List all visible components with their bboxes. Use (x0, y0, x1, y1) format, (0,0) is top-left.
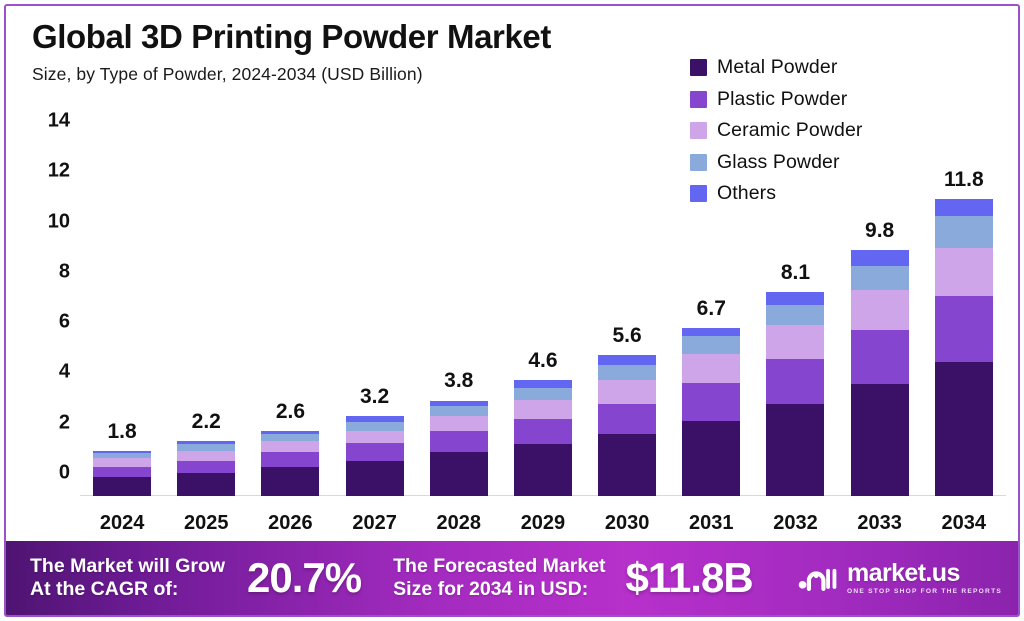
bar-column[interactable]: 2.6 (255, 85, 325, 505)
bar-segment[interactable] (93, 467, 151, 477)
x-axis-label: 2028 (424, 512, 494, 535)
y-axis-tick: 4 (59, 361, 70, 384)
bar-column[interactable]: 11.8 (929, 85, 999, 505)
bar-segment[interactable] (514, 388, 572, 401)
legend-swatch-icon (690, 59, 707, 76)
x-axis-label: 2025 (171, 512, 241, 535)
bar-segment[interactable] (177, 473, 235, 496)
bar-segment[interactable] (261, 452, 319, 467)
bar-column[interactable]: 3.8 (424, 85, 494, 505)
bar-total-label: 1.8 (107, 420, 136, 444)
bar-segment[interactable] (177, 451, 235, 461)
y-axis-tick: 2 (59, 411, 70, 434)
bar-segment[interactable] (766, 325, 824, 359)
infographic-root: Global 3D Printing Powder Market Size, b… (0, 0, 1024, 621)
bar-segment[interactable] (598, 404, 656, 434)
bar-segment[interactable] (851, 290, 909, 330)
cagr-block: The Market will Grow At the CAGR of: 20.… (30, 554, 361, 602)
chart-subtitle: Size, by Type of Powder, 2024-2034 (USD … (32, 64, 1018, 85)
bar-column[interactable]: 4.6 (508, 85, 578, 505)
stacked-bar[interactable] (935, 199, 993, 496)
bar-segment[interactable] (430, 416, 488, 431)
bar-segment[interactable] (766, 359, 824, 404)
bar-total-label: 2.6 (276, 400, 305, 424)
x-axis-label: 2024 (87, 512, 157, 535)
bar-segment[interactable] (935, 216, 993, 249)
y-axis-tick: 10 (48, 210, 70, 233)
legend-item[interactable]: Ceramic Powder (690, 119, 863, 142)
bar-segment[interactable] (935, 248, 993, 296)
stacked-bar[interactable] (766, 292, 824, 496)
x-axis-label: 2033 (844, 512, 914, 535)
x-axis-label: 2031 (676, 512, 746, 535)
bar-segment[interactable] (346, 422, 404, 431)
bar-total-label: 9.8 (865, 219, 894, 243)
bar-segment[interactable] (766, 404, 824, 496)
legend-item[interactable]: Plastic Powder (690, 88, 863, 111)
legend-item[interactable]: Glass Powder (690, 151, 863, 174)
y-axis-tick: 14 (48, 110, 70, 133)
bar-total-label: 4.6 (528, 349, 557, 373)
legend-item-label: Plastic Powder (717, 88, 847, 111)
bar-total-label: 3.2 (360, 385, 389, 409)
bar-column[interactable]: 2.2 (171, 85, 241, 505)
bar-segment[interactable] (598, 355, 656, 365)
legend-swatch-icon (690, 122, 707, 139)
x-axis-label: 2034 (929, 512, 999, 535)
plot-area: 14121086420 1.82.22.63.23.84.65.66.78.19… (6, 85, 1018, 505)
stacked-bar[interactable] (851, 250, 909, 496)
bar-total-label: 6.7 (697, 297, 726, 321)
legend-item-label: Metal Powder (717, 56, 837, 79)
bar-segment[interactable] (682, 328, 740, 337)
chart-legend: Metal PowderPlastic PowderCeramic Powder… (690, 56, 863, 205)
bar-total-label: 11.8 (944, 168, 984, 192)
legend-item[interactable]: Others (690, 182, 863, 205)
forecast-caption-line2: Size for 2034 in USD: (393, 578, 605, 601)
bar-column[interactable]: 1.8 (87, 85, 157, 505)
legend-item-label: Glass Powder (717, 151, 840, 174)
market-us-logo-icon (798, 563, 838, 593)
stacked-bar[interactable] (261, 431, 319, 496)
bar-segment[interactable] (430, 452, 488, 496)
stacked-bar[interactable] (93, 451, 151, 496)
legend-item-label: Others (717, 182, 776, 205)
y-axis: 14121086420 (6, 85, 80, 505)
stacked-bar[interactable] (682, 328, 740, 496)
x-axis-label: 2029 (508, 512, 578, 535)
bar-segment[interactable] (346, 443, 404, 461)
bar-segment[interactable] (682, 336, 740, 354)
bar-segment[interactable] (682, 383, 740, 421)
bar-column[interactable]: 5.6 (592, 85, 662, 505)
chart-card: Global 3D Printing Powder Market Size, b… (4, 4, 1020, 617)
brand-name: market.us (847, 561, 1002, 586)
bar-segment[interactable] (93, 477, 151, 496)
footer-banner: The Market will Grow At the CAGR of: 20.… (6, 541, 1018, 615)
y-axis-tick: 8 (59, 260, 70, 283)
bar-segment[interactable] (682, 354, 740, 383)
page-title: Global 3D Printing Powder Market (32, 20, 1018, 55)
cagr-value: 20.7% (247, 554, 361, 602)
forecast-block: The Forecasted Market Size for 2034 in U… (393, 554, 753, 602)
legend-item[interactable]: Metal Powder (690, 56, 863, 79)
cagr-caption-line1: The Market will Grow (30, 555, 225, 578)
bar-total-label: 3.8 (444, 369, 473, 393)
bar-column[interactable]: 3.2 (339, 85, 409, 505)
x-axis-label: 2032 (760, 512, 830, 535)
forecast-value: $11.8B (626, 554, 753, 602)
legend-swatch-icon (690, 91, 707, 108)
stacked-bar[interactable] (514, 380, 572, 496)
bar-segment[interactable] (851, 266, 909, 290)
legend-item-label: Ceramic Powder (717, 119, 863, 142)
bar-segment[interactable] (766, 305, 824, 325)
bar-segment[interactable] (598, 380, 656, 404)
legend-swatch-icon (690, 185, 707, 202)
y-axis-tick: 6 (59, 311, 70, 334)
stacked-bar[interactable] (598, 355, 656, 496)
legend-swatch-icon (690, 154, 707, 171)
x-axis: 2024202520262027202820292030203120322033… (6, 505, 1018, 541)
bar-segment[interactable] (177, 461, 235, 474)
bar-total-label: 5.6 (613, 324, 642, 348)
cagr-caption: The Market will Grow At the CAGR of: (30, 555, 225, 600)
plot-canvas: 1.82.22.63.23.84.65.66.78.19.811.8 (80, 85, 1006, 505)
brand-tagline: ONE STOP SHOP FOR THE REPORTS (847, 589, 1002, 596)
cagr-caption-line2: At the CAGR of: (30, 578, 225, 601)
bar-segment[interactable] (93, 458, 151, 467)
stacked-bar[interactable] (177, 441, 235, 496)
x-axis-label: 2026 (255, 512, 325, 535)
x-axis-label: 2030 (592, 512, 662, 535)
brand-text: market.us ONE STOP SHOP FOR THE REPORTS (847, 561, 1002, 596)
bar-segment[interactable] (598, 434, 656, 496)
bar-segment[interactable] (598, 365, 656, 380)
bar-segment[interactable] (935, 199, 993, 215)
bar-segment[interactable] (851, 250, 909, 266)
chart-header: Global 3D Printing Powder Market Size, b… (6, 6, 1018, 85)
bar-segment[interactable] (935, 362, 993, 497)
stacked-bar[interactable] (430, 401, 488, 497)
forecast-caption: The Forecasted Market Size for 2034 in U… (393, 555, 605, 600)
bar-segment[interactable] (430, 406, 488, 416)
forecast-caption-line1: The Forecasted Market (393, 555, 605, 578)
bar-segment[interactable] (261, 467, 319, 496)
bar-segment[interactable] (261, 441, 319, 452)
bar-segment[interactable] (514, 380, 572, 388)
bar-segment[interactable] (514, 419, 572, 444)
bar-group: 1.82.22.63.23.84.65.66.78.19.811.8 (80, 85, 1006, 505)
bar-segment[interactable] (430, 431, 488, 452)
brand-logo[interactable]: market.us ONE STOP SHOP FOR THE REPORTS (798, 561, 1002, 596)
bar-segment[interactable] (514, 444, 572, 496)
bar-segment[interactable] (514, 400, 572, 419)
y-axis-tick: 12 (48, 160, 70, 183)
bar-segment[interactable] (346, 461, 404, 496)
bar-segment[interactable] (935, 296, 993, 361)
bar-total-label: 2.2 (192, 410, 221, 434)
stacked-bar[interactable] (346, 416, 404, 496)
bar-segment[interactable] (851, 330, 909, 384)
x-axis-label: 2027 (339, 512, 409, 535)
bar-segment[interactable] (766, 292, 824, 305)
bar-total-label: 8.1 (781, 261, 810, 285)
y-axis-tick: 0 (59, 462, 70, 485)
bar-segment[interactable] (346, 431, 404, 444)
bar-segment[interactable] (682, 421, 740, 496)
bar-segment[interactable] (851, 384, 909, 496)
